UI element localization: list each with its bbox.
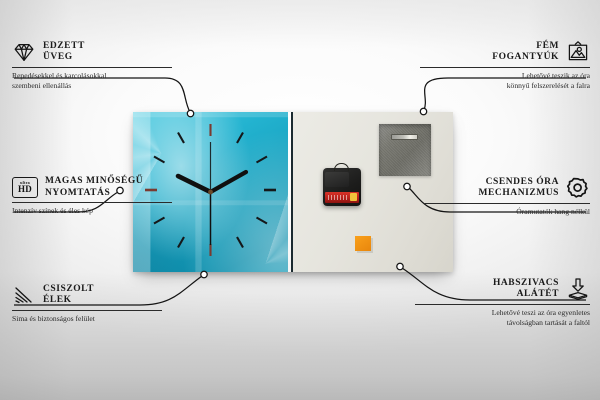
ultra-hd-icon-main-text: HD (18, 185, 32, 194)
movement-housing (325, 172, 349, 187)
callout-header: FÉM FOGANTYÚK (420, 40, 590, 64)
battery-label-bands (328, 195, 348, 200)
minute-hand (211, 172, 247, 192)
battery-positive-terminal (350, 193, 357, 201)
callout-fem-fogantyuk: FÉM FOGANTYÚK Lehetővé teszik az óra kön… (420, 40, 590, 90)
metal-texture (379, 124, 431, 176)
callout-divider (424, 203, 590, 204)
callout-divider (415, 304, 590, 305)
callout-description-line1: Lehetővé teszik az óra (420, 71, 590, 81)
callout-description-line1: Lehetővé teszi az óra egyenletes (415, 308, 590, 318)
callout-header: CSENDES ÓRA MECHANIZMUS (424, 176, 590, 200)
callout-csiszolt-elek: CSISZOLT ÉLEK Sima és biztonságos felüle… (12, 283, 162, 324)
callout-description-line2: szembeni ellenállás (12, 81, 172, 91)
callout-divider (12, 202, 172, 203)
callout-divider (420, 67, 590, 68)
callout-divider (12, 67, 172, 68)
callout-header: HABSZIVACS ALÁTÉT (415, 277, 590, 301)
callout-title: MAGAS MINŐSÉGŰ NYOMTATÁS (45, 176, 143, 199)
hanger-slot (391, 134, 418, 140)
battery (325, 192, 359, 203)
callout-title: FÉM FOGANTYÚK (492, 41, 559, 64)
callout-title: HABSZIVACS ALÁTÉT (493, 278, 559, 301)
callout-description-line2: távolságban tartását a faltól (415, 318, 590, 328)
callout-description-line1: Repedésekkel és karcolásokkal (12, 71, 172, 81)
callout-description-line1: Intenzív színek és éles kép (12, 206, 172, 216)
callout-title: EDZETT ÜVEG (43, 41, 85, 64)
callout-magas-minosegu-nyomtatas: ultra HD MAGAS MINŐSÉGŰ NYOMTATÁS Intenz… (12, 176, 172, 216)
callout-description-line1: Óramutatók hang nélkül (424, 207, 590, 217)
gear-icon (566, 176, 590, 200)
callout-header: CSISZOLT ÉLEK (12, 283, 162, 307)
hour-hand (178, 176, 211, 192)
callout-description-line1: Sima és biztonságos felület (12, 314, 162, 324)
foam-spacer-pad (355, 236, 371, 251)
clock-center-cap (208, 190, 213, 195)
callout-divider (12, 310, 162, 311)
callout-title: CSISZOLT ÉLEK (43, 284, 94, 307)
callout-edzett-uveg: EDZETT ÜVEG Repedésekkel és karcolásokka… (12, 40, 172, 90)
picture-frame-hanger-icon (566, 40, 590, 64)
callout-header: ultra HD MAGAS MINŐSÉGŰ NYOMTATÁS (12, 176, 172, 199)
clock-movement (323, 168, 361, 206)
ultra-hd-icon: ultra HD (12, 177, 38, 198)
callout-title: CSENDES ÓRA MECHANIZMUS (479, 177, 559, 200)
callout-habszivacs-alatet: HABSZIVACS ALÁTÉT Lehetővé teszi az óra … (415, 277, 590, 327)
callout-csendes-ora-mechanizmus: CSENDES ÓRA MECHANIZMUS Óramutatók hang … (424, 176, 590, 217)
diamond-icon (12, 40, 36, 64)
polished-edges-icon (12, 283, 36, 307)
foam-spacer-icon (566, 277, 590, 301)
movement-hook (334, 163, 349, 171)
metal-hanger-plate (379, 124, 431, 176)
callout-description-line2: könnyű felszerelését a falra (420, 81, 590, 91)
callout-header: EDZETT ÜVEG (12, 40, 172, 64)
product-image (133, 112, 453, 272)
